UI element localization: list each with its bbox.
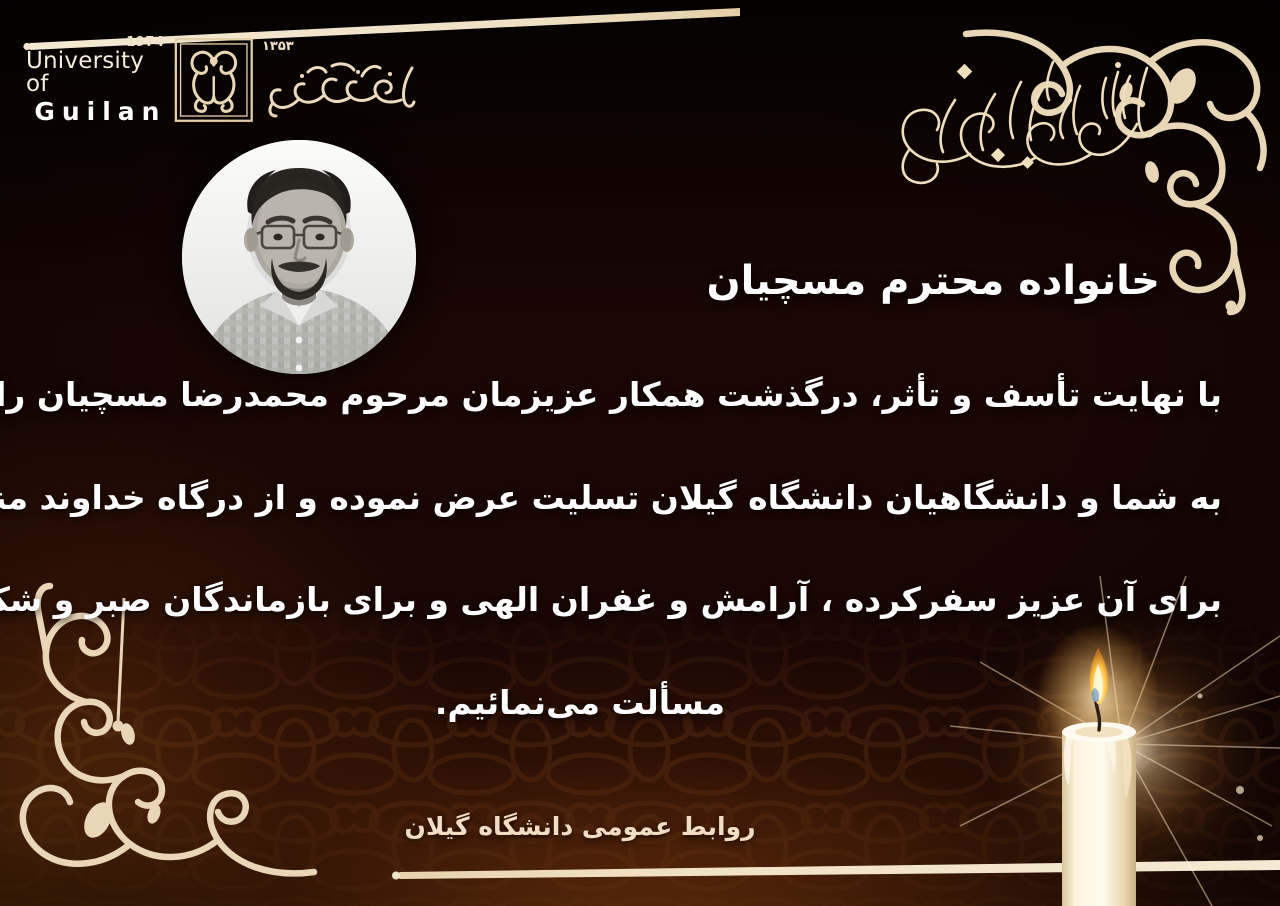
body-line-2: به شما و دانشگاهیان دانشگاه گیلان تسلیت … [58,481,1222,516]
inna-lillah-calligraphy-icon [875,42,1165,192]
university-emblem-icon [173,34,255,126]
deceased-portrait [182,140,416,374]
logo-guilan-word: Guilan [34,99,166,124]
condolence-poster: 1974 University of Guilan ۱۳۵۳ [0,0,1280,906]
page-title: خانواده محترم مسچیان [706,258,1160,304]
logo-persian-text: ۱۳۵۳ [262,39,422,122]
portrait-photo [182,140,416,374]
logo-latin-text: 1974 University of Guilan [22,36,166,124]
university-logo: 1974 University of Guilan ۱۳۵۳ [22,30,422,130]
candle-icon [970,606,1270,906]
body-line-1: با نهایت تأسف و تأثر، درگذشت همکار عزیزم… [58,378,1222,413]
logo-university-name-persian [262,52,422,122]
logo-university-word: University of [26,50,166,96]
